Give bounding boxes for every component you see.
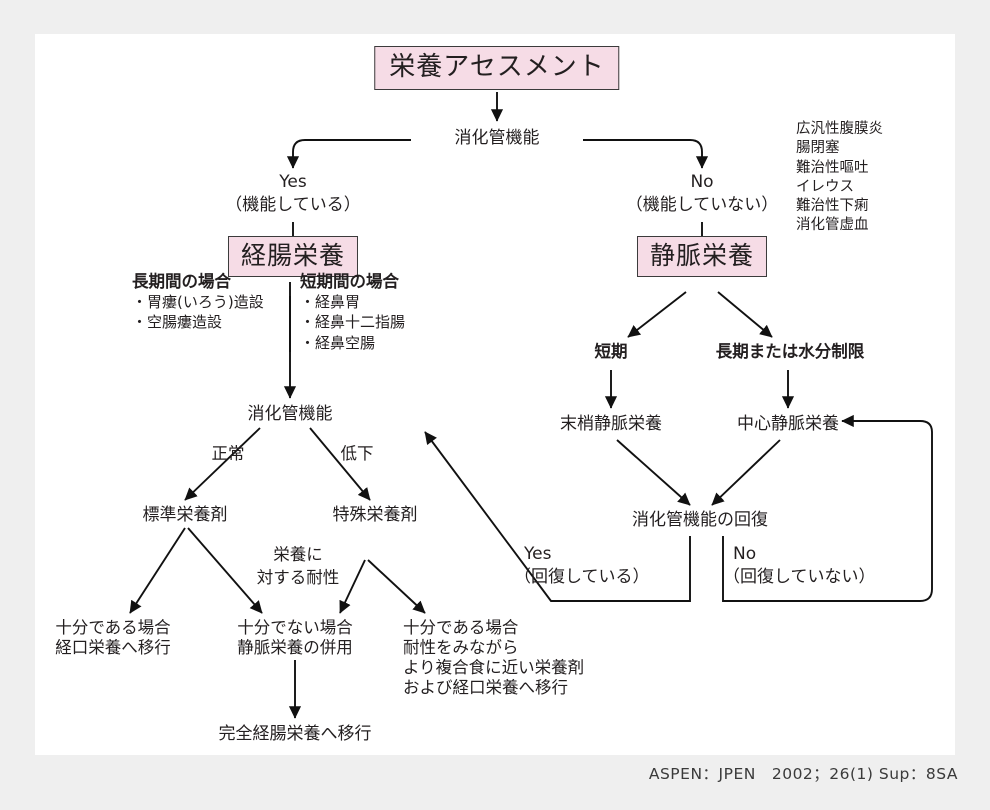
outcome-line: 十分である場合 (403, 618, 584, 638)
outcome-line: 静脈栄養の併用 (237, 638, 353, 658)
outcome-line: 耐性をみながら (403, 638, 584, 658)
short-term-item: ・経鼻胃 (300, 292, 405, 312)
flowchart-root: 栄養アセスメント 消化管機能 Yes （機能している） No （機能していない）… (0, 0, 990, 810)
outcome-line: 十分でない場合 (237, 618, 353, 638)
indication-item: 消化管虚血 (796, 216, 883, 235)
indication-item: 難治性下痢 (796, 197, 883, 216)
parenteral-short-label: 短期 (595, 342, 628, 362)
recovery-no-sublabel: （回復していない） (723, 567, 876, 588)
indication-item: 広汎性腹膜炎 (796, 120, 883, 139)
no-indications-list: 広汎性腹膜炎 腸閉塞 難治性嘔吐 イレウス 難治性下痢 消化管虚血 (796, 120, 883, 236)
enteral-long-term-group: 長期間の場合 ・胃瘻(いろう)造設 ・空腸瘻造設 (132, 272, 264, 333)
outcome-sufficient-special: 十分である場合 耐性をみながら より複合食に近い栄養剤 および経口栄養へ移行 (403, 618, 584, 699)
short-term-item: ・経鼻空腸 (300, 333, 405, 353)
central-parenteral-node: 中心静脈栄養 (737, 414, 839, 435)
indication-item: イレウス (796, 178, 883, 197)
decision-gi-function-top: 消化管機能 (455, 128, 540, 149)
outcome-insufficient: 十分でない場合 静脈栄養の併用 (237, 618, 353, 658)
outcome-sufficient-standard: 十分である場合 経口栄養へ移行 (55, 618, 171, 658)
branch-yes-sublabel: （機能している） (225, 195, 361, 216)
branch-yes-label: Yes (279, 172, 306, 193)
parenteral-long-label: 長期または水分制限 (716, 342, 865, 362)
outcome-line: および経口栄養へ移行 (403, 678, 584, 698)
long-term-item: ・空腸瘻造設 (132, 312, 264, 332)
gi-recovery-node: 消化管機能の回復 (632, 510, 768, 531)
special-formula-node: 特殊栄養剤 (333, 505, 418, 526)
outcome-line: より複合食に近い栄養剤 (403, 658, 584, 678)
tolerance-label-line1: 栄養に (273, 545, 323, 565)
enteral-short-term-group: 短期間の場合 ・経鼻胃 ・経鼻十二指腸 ・経鼻空腸 (300, 272, 405, 353)
edge-label-normal: 正常 (212, 444, 245, 464)
title-box: 栄養アセスメント (374, 52, 619, 84)
parenteral-nutrition-label: 静脈栄養 (637, 236, 767, 277)
short-term-item: ・経鼻十二指腸 (300, 312, 405, 332)
short-term-heading: 短期間の場合 (300, 272, 405, 292)
branch-no-label: No (690, 172, 713, 193)
parenteral-nutrition-box: 静脈栄養 (637, 241, 767, 272)
indication-item: 難治性嘔吐 (796, 159, 883, 178)
long-term-item: ・胃瘻(いろう)造設 (132, 292, 264, 312)
indication-item: 腸閉塞 (796, 139, 883, 158)
enteral-nutrition-box: 経腸栄養 (228, 241, 358, 272)
outcome-line: 経口栄養へ移行 (55, 638, 171, 658)
branch-no-sublabel: （機能していない） (626, 195, 779, 216)
full-enteral-node: 完全経腸栄養へ移行 (219, 724, 372, 745)
peripheral-parenteral-node: 末梢静脈栄養 (560, 414, 662, 435)
outcome-line: 十分である場合 (55, 618, 171, 638)
edge-label-low: 低下 (341, 444, 374, 464)
standard-formula-node: 標準栄養剤 (143, 505, 228, 526)
gi-function-node: 消化管機能 (248, 404, 333, 425)
tolerance-label-line2: 対する耐性 (257, 568, 340, 588)
citation: ASPEN：JPEN 2002；26(1) Sup：8SA (0, 762, 958, 784)
long-term-heading: 長期間の場合 (132, 272, 264, 292)
title-label: 栄養アセスメント (374, 46, 619, 90)
recovery-no-label: No (733, 544, 756, 565)
recovery-yes-label: Yes (524, 544, 551, 565)
enteral-nutrition-label: 経腸栄養 (228, 236, 358, 277)
recovery-yes-sublabel: （回復している） (514, 567, 650, 588)
